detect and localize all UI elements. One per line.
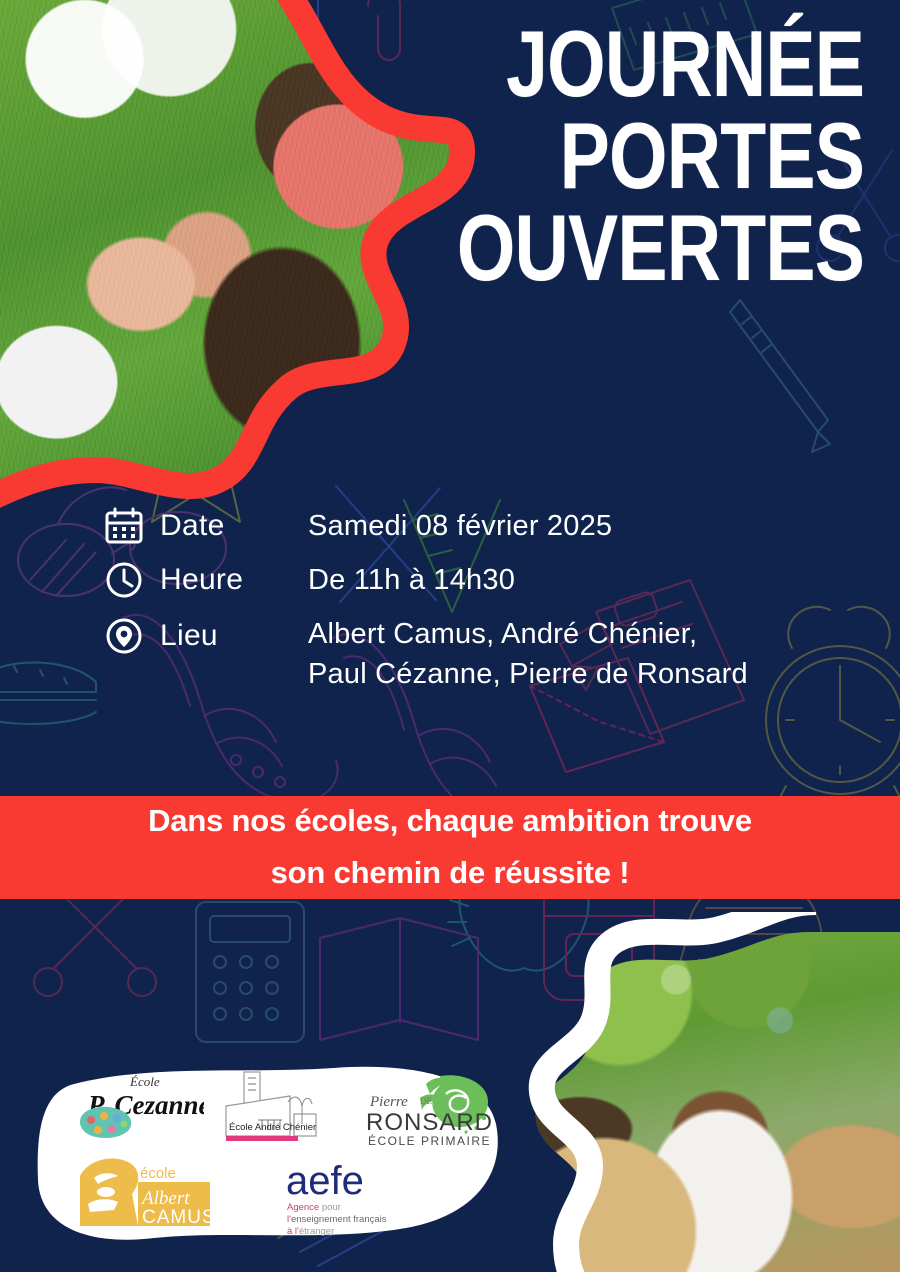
svg-text:Agence pour: Agence pour (287, 1202, 341, 1213)
info-row-heure: Heure De 11h à 14h30 (104, 560, 748, 600)
svg-text:aefe: aefe (286, 1159, 364, 1203)
page-title: JOURNÉE PORTES OUVERTES (457, 18, 864, 294)
info-value-heure: De 11h à 14h30 (308, 560, 515, 600)
location-pin-icon (104, 616, 144, 656)
calendar-icon (104, 506, 144, 546)
tagline-banner: Dans nos écoles, chaque ambition trouve … (0, 796, 900, 899)
title-line-3: OUVERTES (457, 202, 864, 294)
svg-text:École: École (129, 1074, 160, 1089)
tagline-line-2: son chemin de réussite ! (0, 848, 900, 900)
logo-ecole-paul-cezanne: École P. Cezanne (74, 1070, 204, 1146)
logo-ecole-andre-chenier: École André Chénier (216, 1066, 336, 1152)
svg-text:ÉCOLE PRIMAIRE: ÉCOLE PRIMAIRE (368, 1133, 491, 1148)
svg-text:Albert: Albert (140, 1188, 190, 1209)
svg-text:DE: DE (420, 1096, 432, 1106)
clock-icon (104, 560, 144, 600)
logo-ecole-albert-camus: école Albert CAMUS (76, 1154, 221, 1230)
info-value-lieu: Albert Camus, André Chénier, Paul Cézann… (308, 614, 748, 694)
partner-logos-card: École P. Cezanne (34, 1062, 504, 1248)
info-row-date: Date Samedi 08 février 2025 (104, 506, 748, 546)
svg-text:Pierre: Pierre (369, 1094, 408, 1110)
event-info-block: Date Samedi 08 février 2025 Heure De 11h… (104, 506, 748, 708)
info-value-date: Samedi 08 février 2025 (308, 506, 612, 546)
svg-text:École André Chénier: École André Chénier (229, 1122, 316, 1133)
svg-text:CAMUS: CAMUS (142, 1207, 216, 1228)
logo-pierre-de-ronsard: Pierre DE RONSARD ÉCOLE PRIMAIRE (354, 1072, 494, 1152)
tagline-line-1: Dans nos écoles, chaque ambition trouve (0, 796, 900, 848)
title-line-1: JOURNÉE (457, 18, 864, 110)
info-value-heure-line1: De 11h à 14h30 (308, 564, 515, 596)
info-value-lieu-line1: Albert Camus, André Chénier, (308, 618, 697, 650)
logo-aefe: aefe Agence pour l'enseignement français… (284, 1158, 424, 1238)
info-label-date: Date (160, 506, 308, 546)
info-label-heure: Heure (160, 560, 308, 600)
poster-root: JOURNÉE PORTES OUVERTES Date Samedi 08 f… (0, 0, 900, 1272)
svg-text:à l'étranger: à l'étranger (287, 1226, 334, 1237)
svg-text:RONSARD: RONSARD (366, 1109, 493, 1136)
title-line-2: PORTES (457, 110, 864, 202)
red-wave-shape (0, 0, 520, 520)
info-value-lieu-line2: Paul Cézanne, Pierre de Ronsard (308, 654, 748, 694)
info-label-lieu: Lieu (160, 616, 308, 656)
info-value-date-line1: Samedi 08 février 2025 (308, 510, 612, 542)
info-row-lieu: Lieu Albert Camus, André Chénier, Paul C… (104, 614, 748, 694)
white-wave-shape (480, 912, 900, 1272)
svg-text:l'enseignement français: l'enseignement français (287, 1214, 387, 1225)
svg-text:école: école (140, 1165, 176, 1182)
